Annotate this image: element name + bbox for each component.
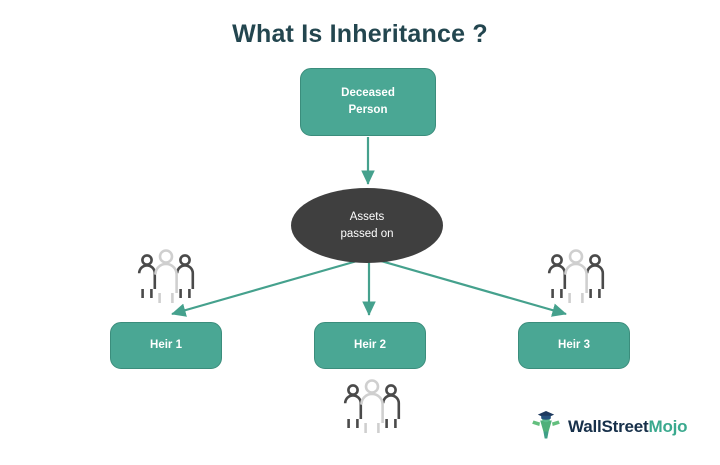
label-line-1: Deceased [341,87,395,99]
arrow-assets-to-heir-1 [172,259,364,314]
label-line-2: Person [349,104,388,116]
arrow-assets-to-heir-3 [374,259,566,314]
people-group-icon [134,248,198,309]
node-deceased-person-label: Deceased Person [341,85,395,118]
brand-name-part2: Mojo [649,417,688,436]
node-heir-1[interactable]: Heir 1 [110,322,222,369]
node-heir-3-label: Heir 3 [558,337,590,354]
diagram-canvas: What Is Inheritance ? Deceased Person As… [0,0,720,465]
brand-name: WallStreetMojo [568,417,687,437]
node-heir-1-label: Heir 1 [150,337,182,354]
node-heir-3[interactable]: Heir 3 [518,322,630,369]
brand-name-part1: WallStreet [568,417,649,436]
wallstreetmojo-bull-logo-icon [531,409,561,445]
node-heir-2[interactable]: Heir 2 [314,322,426,369]
node-heir-2-label: Heir 2 [354,337,386,354]
label-line-1: Assets [350,211,385,223]
page-title: What Is Inheritance ? [0,20,720,49]
brand-watermark[interactable]: WallStreetMojo [531,409,687,445]
people-group-icon [340,378,404,439]
node-assets-label: Assets passed on [340,209,393,242]
node-deceased-person[interactable]: Deceased Person [300,68,436,136]
node-assets-passed-on[interactable]: Assets passed on [291,188,443,263]
people-group-icon [544,248,608,309]
label-line-2: passed on [340,228,393,240]
